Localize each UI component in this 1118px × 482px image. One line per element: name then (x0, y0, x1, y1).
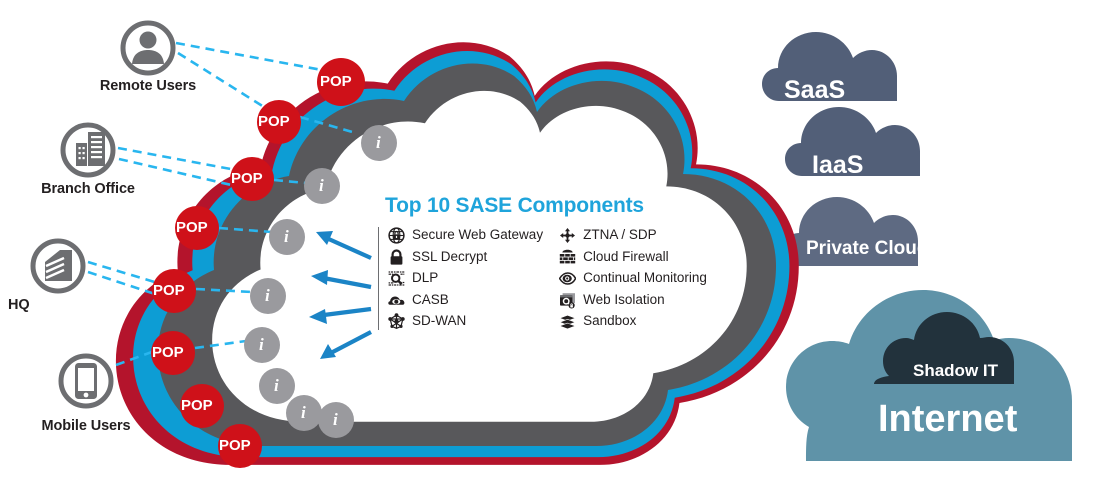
pop-label: POP (152, 344, 184, 361)
component-secure-web-gateway[interactable]: Secure Web Gateway (388, 227, 543, 244)
component-ztna-sdp[interactable]: ZTNA / SDP (559, 227, 707, 244)
ring-info-node-label: i (301, 403, 306, 423)
component-web-isolation[interactable]: Web Isolation (559, 292, 707, 309)
sase-components-panel: Top 10 SASE Components (377, 194, 717, 364)
window-lock-icon (559, 292, 576, 309)
component-sandbox[interactable]: Sandbox (559, 313, 707, 330)
brick-wall-icon (559, 249, 576, 266)
cloud-label-iaas: IaaS (812, 151, 863, 180)
pop-label: POP (231, 170, 263, 187)
component-label: Continual Monitoring (583, 271, 707, 286)
component-label: Sandbox (583, 314, 636, 329)
ring-info-node-label: i (319, 176, 324, 196)
component-ssl-decrypt[interactable]: SSL Decrypt (388, 249, 543, 266)
component-label: ZTNA / SDP (583, 228, 657, 243)
data-magnifier-icon (388, 270, 405, 287)
component-label: Web Isolation (583, 293, 665, 308)
network-mesh-icon (388, 313, 405, 330)
edge-label-mobile-users: Mobile Users (6, 418, 166, 434)
edge-label-branch-office: Branch Office (8, 181, 168, 197)
mobile-phone-icon (61, 356, 111, 406)
component-cloud-firewall[interactable]: Cloud Firewall (559, 249, 707, 266)
office-building-icon (63, 125, 113, 175)
cloud-label-shadow-it: Shadow IT (913, 361, 998, 381)
pop-label: POP (176, 219, 208, 236)
edge-label-remote-users: Remote Users (68, 78, 228, 94)
globe-lock-icon (388, 227, 405, 244)
pop-label: POP (320, 73, 352, 90)
ring-info-node-label: i (265, 286, 270, 306)
component-label: Secure Web Gateway (412, 228, 543, 243)
components-right-column: ZTNA / SDP (559, 227, 707, 330)
padlock-icon (388, 249, 405, 266)
component-dlp[interactable]: DLP (388, 270, 543, 287)
component-label: Cloud Firewall (583, 250, 669, 265)
user-circle-icon (123, 23, 173, 73)
cloud-label-internet: Internet (878, 398, 1017, 441)
ring-info-node-label: i (259, 335, 264, 355)
cloud-eye-icon (388, 292, 405, 309)
pop-label: POP (258, 113, 290, 130)
pop-label: POP (219, 437, 251, 454)
panel-title: Top 10 SASE Components (385, 194, 717, 218)
four-way-arrows-icon (559, 227, 576, 244)
ring-info-node-label: i (284, 227, 289, 247)
component-label: SSL Decrypt (412, 250, 487, 265)
ring-info-node-label: i (333, 410, 338, 430)
component-sd-wan[interactable]: SD-WAN (388, 313, 543, 330)
pop-label: POP (181, 397, 213, 414)
stacked-layers-icon (559, 313, 576, 330)
component-label: SD-WAN (412, 314, 466, 329)
pop-label: POP (153, 282, 185, 299)
cloud-label-saas: SaaS (784, 76, 845, 105)
sase-architecture-diagram: Remote Users Branch Office HQ Mobile Use… (0, 0, 1118, 482)
component-casb[interactable]: CASB (388, 292, 543, 309)
component-label: CASB (412, 293, 449, 308)
components-left-column: Secure Web Gateway SSL Decrypt (388, 227, 543, 330)
headquarters-icon (33, 241, 83, 291)
ring-info-node-label: i (376, 133, 381, 153)
ring-info-node-label: i (274, 376, 279, 396)
cloud-label-private-cloud: Private Cloud (806, 238, 928, 260)
eye-icon (559, 270, 576, 287)
component-continual-monitoring[interactable]: Continual Monitoring (559, 270, 707, 287)
edge-label-hq: HQ (8, 297, 108, 313)
component-label: DLP (412, 271, 438, 286)
